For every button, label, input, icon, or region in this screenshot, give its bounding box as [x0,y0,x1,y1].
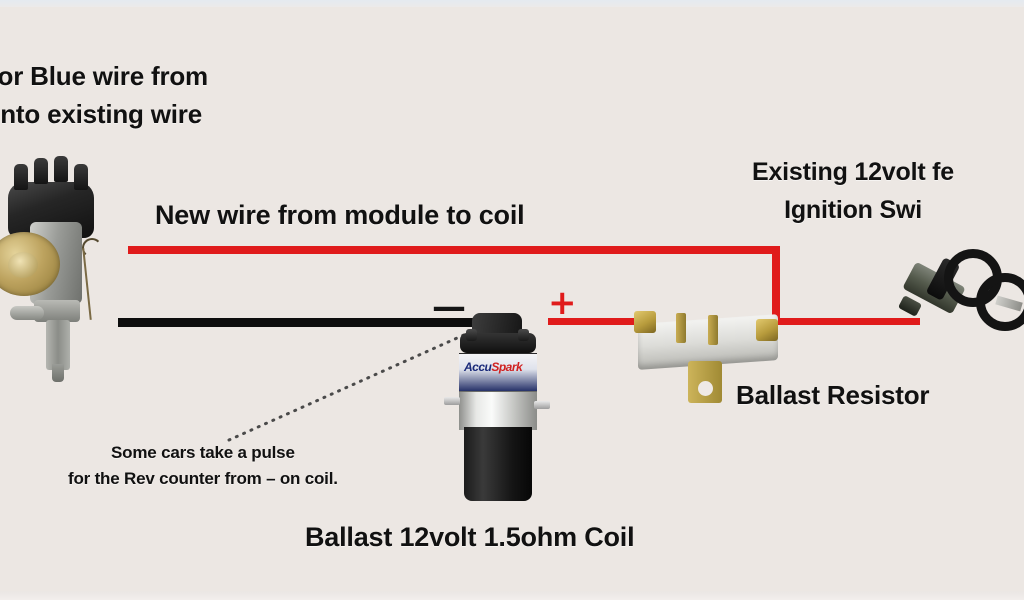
distributor-drive-tip [52,364,64,382]
distributor-assembly [0,160,132,382]
coil-lower-body [464,427,532,501]
top-edge-band [0,0,1024,7]
coil-positive-sign: + [548,283,577,323]
distributor-tower [34,158,48,184]
ballast-resistor-blade [708,315,718,345]
ballast-resistor-mount-hole [698,381,713,396]
coil-chrome-band [459,391,537,430]
label-ballast-resistor: Ballast Resistor [736,380,929,411]
label-coil-caption: Ballast 12volt 1.5ohm Coil [305,522,634,553]
distributor-shaft [46,320,70,370]
distributor-clamp [10,306,44,320]
coil-negative-post [466,329,477,341]
ballast-resistor-terminal-right [756,319,778,341]
label-rev-line2: for the Rev counter from – on coil. [68,466,338,492]
coil-negative-sign: — [432,287,466,327]
ballast-resistor-blade [676,313,686,343]
bottom-edge-band [0,591,1024,600]
coil-positive-post [518,329,529,341]
ignition-coil: AccuSpark [456,313,542,505]
label-splice-line2: rk into existing wire [0,95,208,133]
distributor-tower [14,164,28,190]
label-feed-line1: Existing 12volt fe [752,153,954,191]
label-rev-line1: Some cars take a pulse [68,440,338,466]
ignition-switch-assembly [900,235,1024,335]
wire-red-resistor-to-ignition-switch [772,318,920,325]
label-feed-line2: Ignition Swi [752,191,954,229]
ignition-wiring-diagram: AccuSpark ck or Blue wire from rk into e… [0,0,1024,600]
label-splice-rest: into existing wire [0,99,202,129]
coil-brand-label: AccuSpark [459,353,537,392]
label-splice-instruction: ck or Blue wire from rk into existing wi… [0,57,208,133]
coil-brand-text: AccuSpark [464,360,522,374]
label-existing-feed: Existing 12volt fe Ignition Swi [752,153,954,229]
vacuum-advance-hub [8,252,38,278]
coil-mount-lug-right [534,401,550,409]
leader-line-dotted [225,320,485,445]
label-new-wire: New wire from module to coil [155,200,524,231]
coil-brand-suffix: Spark [491,360,522,374]
wire-black-module-to-coil-negative [118,318,478,327]
label-splice-line1: ck or Blue wire from [0,57,208,95]
module-lead-wire [82,248,92,320]
wire-red-module-to-coil [128,246,780,254]
label-rev-counter-note: Some cars take a pulse for the Rev count… [68,440,338,492]
ignition-switch-tip [898,295,922,317]
coil-brand-prefix: Accu [464,360,491,374]
coil-mount-lug-left [444,397,460,405]
distributor-tower [54,156,68,182]
ballast-resistor-terminal-left [634,311,656,333]
distributor-tower [74,164,88,190]
